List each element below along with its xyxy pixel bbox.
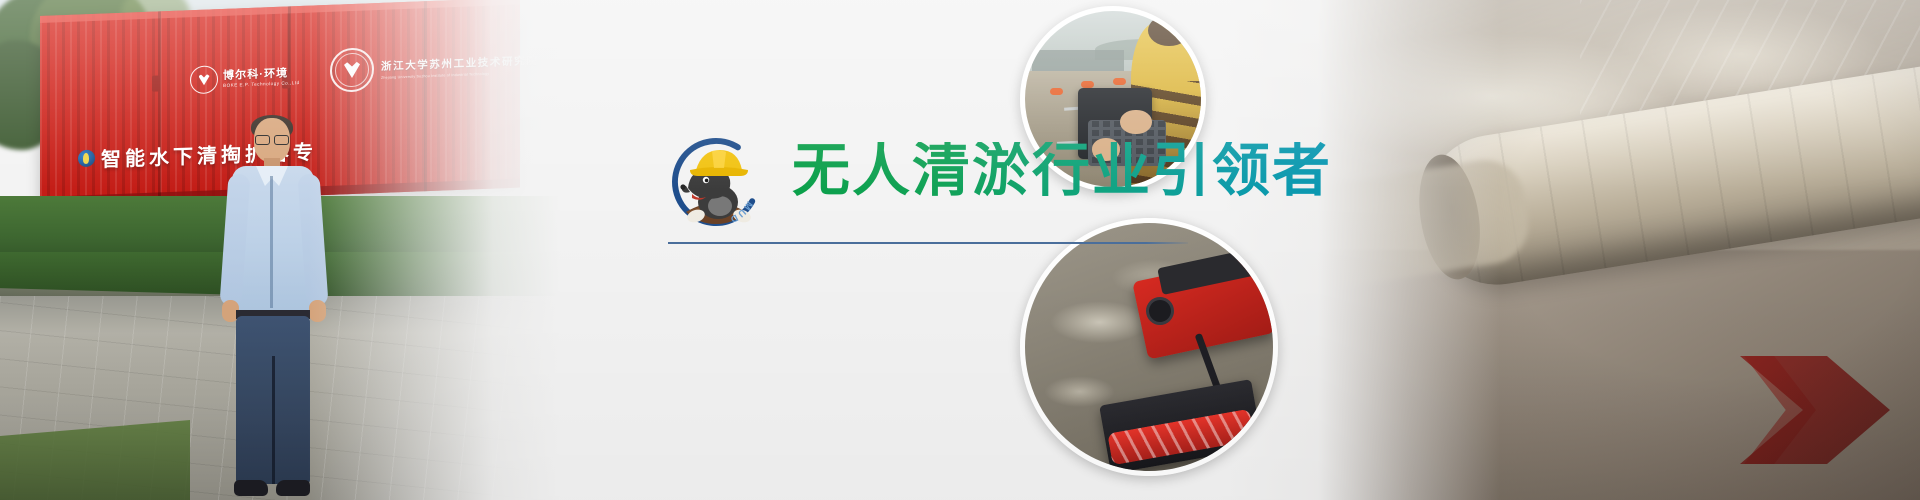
container-brand-block: 博尔科·环境 BOKE E.P. Technology Co.,Ltd: [190, 62, 300, 94]
shoe-right: [276, 480, 310, 496]
glasses-icon: [255, 135, 289, 143]
container-hinge: [152, 75, 160, 91]
headline: 无人清淤行业引领者: [792, 142, 1332, 200]
container-seam: [158, 11, 161, 201]
shirt-placket: [270, 176, 273, 308]
slogan-badge-icon: [78, 150, 95, 168]
mud-mole-logo: MUD MOLE: [662, 128, 770, 236]
container-seam: [424, 1, 427, 191]
shoe-left: [234, 480, 268, 496]
hand-right: [309, 300, 326, 322]
hero-banner: 博尔科·环境 BOKE E.P. Technology Co.,Ltd 浙江大学…: [0, 0, 1920, 500]
container-partner-block: 浙江大学苏州工业技术研究院 Zhejiang University Suzhou…: [330, 41, 538, 93]
trouser-seam: [272, 356, 275, 484]
center-content: MUD MOLE 无人清淤行业引领者: [640, 0, 1340, 500]
boke-emblem-icon: [190, 65, 218, 94]
man-in-blue-shirt: [218, 118, 328, 500]
headline-divider: [668, 242, 1188, 244]
left-photo: 博尔科·环境 BOKE E.P. Technology Co.,Ltd 浙江大学…: [0, 0, 560, 500]
university-emblem-icon: [330, 47, 374, 93]
